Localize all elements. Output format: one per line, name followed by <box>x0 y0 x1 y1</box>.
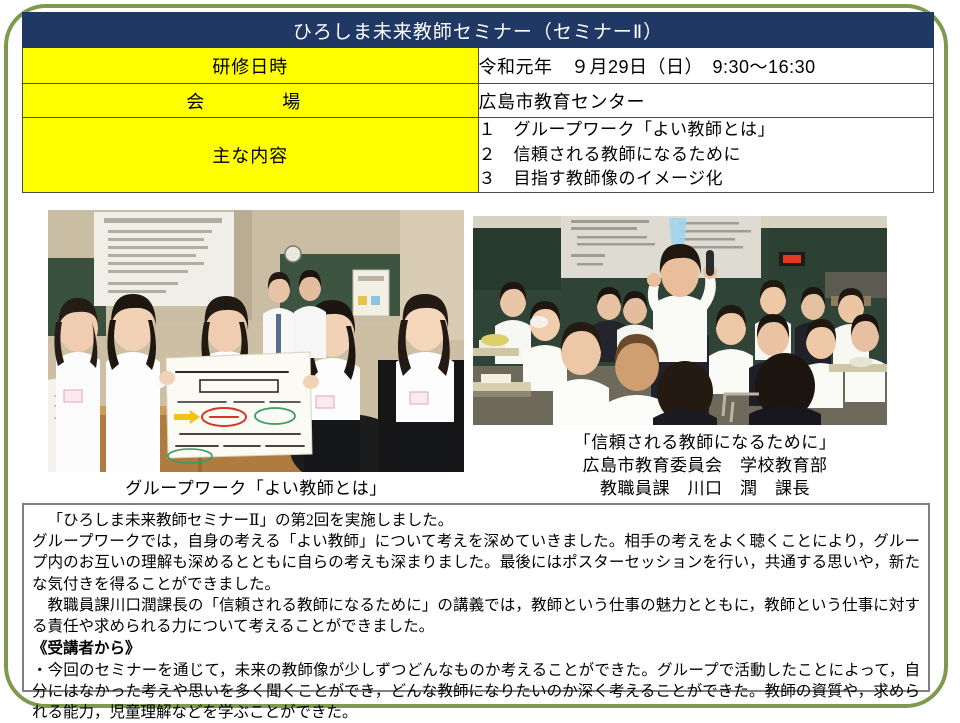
content-item: ３ 目指す教師像のイメージ化 <box>479 167 934 192</box>
seminar-info-table: ひろしま未来教師セミナー（セミナーⅡ） 研修日時 令和元年 ９月29日（日） 9… <box>22 12 934 193</box>
report-paragraph-3: 教職員課川口潤課長の「信頼される教師になるために」の講義では，教師という仕事の魅… <box>32 595 920 637</box>
report-text-box: 「ひろしま未来教師セミナーⅡ」の第2回を実施しました。 グループワークでは，自身… <box>22 503 930 692</box>
group-work-scene <box>48 210 464 472</box>
photo-group-work <box>48 210 464 472</box>
participant-voices-heading: 《受講者から》 <box>32 638 920 659</box>
caption-lecture-line: 「信頼される教師になるために」 <box>505 432 905 455</box>
label-venue: 会 場 <box>23 84 479 118</box>
content-item: １ グループワーク「よい教師とは」 <box>479 118 934 143</box>
table-row: 会 場 広島市教育センター <box>23 84 934 118</box>
report-paragraph-2: グループワークでは，自身の考える「よい教師」について考えを深めていきました。相手… <box>32 531 920 595</box>
value-main-content: １ グループワーク「よい教師とは」 ２ 信頼される教師になるために ３ 目指す教… <box>478 118 934 193</box>
participant-voices-text: ・今回のセミナーを通じて，未来の教師像が少しずつどんなものか考えることができた。… <box>32 660 920 723</box>
lecture-scene <box>473 216 887 425</box>
caption-group-work-text: グループワーク「よい教師とは」 <box>125 479 386 498</box>
table-row: 主な内容 １ グループワーク「よい教師とは」 ２ 信頼される教師になるために ３… <box>23 118 934 193</box>
caption-group-work: グループワーク「よい教師とは」 <box>48 478 464 501</box>
value-datetime: 令和元年 ９月29日（日） 9:30～16:30 <box>478 48 934 84</box>
table-row-title: ひろしま未来教師セミナー（セミナーⅡ） <box>23 13 934 48</box>
photo-lecture <box>473 216 887 425</box>
table-row: 研修日時 令和元年 ９月29日（日） 9:30～16:30 <box>23 48 934 84</box>
caption-lecture-line: 教職員課 川口 潤 課長 <box>505 478 905 501</box>
label-datetime: 研修日時 <box>23 48 479 84</box>
label-main-content: 主な内容 <box>23 118 479 193</box>
content-item: ２ 信頼される教師になるために <box>479 143 934 168</box>
caption-lecture: 「信頼される教師になるために」 広島市教育委員会 学校教育部 教職員課 川口 潤… <box>505 432 905 501</box>
caption-lecture-line: 広島市教育委員会 学校教育部 <box>505 455 905 478</box>
seminar-title: ひろしま未来教師セミナー（セミナーⅡ） <box>23 13 934 48</box>
report-paragraph-1: 「ひろしま未来教師セミナーⅡ」の第2回を実施しました。 <box>32 510 920 531</box>
value-venue: 広島市教育センター <box>478 84 934 118</box>
